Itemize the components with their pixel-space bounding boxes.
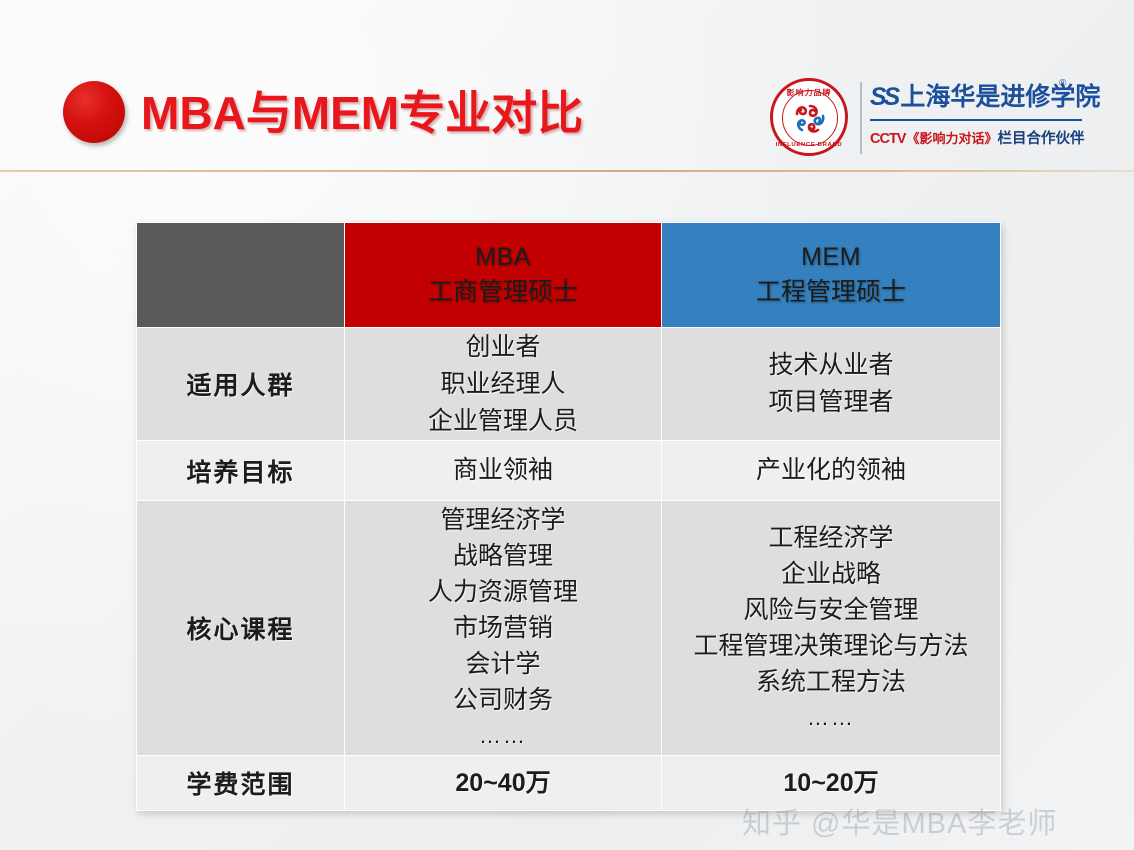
table-row-tuition-range: 学费范围 20~40万 10~20万: [137, 756, 1001, 811]
slide-header: MBA与MEM专业对比 影响力品牌 INFLUENCE BRAND SS上海华是…: [0, 0, 1134, 172]
cell-mem-tuition-range: 10~20万: [662, 756, 1001, 811]
header-divider: [0, 170, 1134, 172]
institution-logo: 影响力品牌 INFLUENCE BRAND SS上海华是进修学院 ® CCTV《…: [770, 76, 1082, 160]
row-label-target-audience: 适用人群: [137, 328, 345, 441]
header-mem-cn: 工程管理硕士: [662, 274, 1000, 310]
program-name: 《影响力对话》: [906, 131, 997, 146]
page-title: MBA与MEM专业对比: [141, 86, 583, 140]
partner-text: 栏目合作伙伴: [998, 131, 1085, 147]
seal-top-text: 影响力品牌: [773, 88, 845, 98]
table-row-core-courses: 核心课程 管理经济学战略管理人力资源管理市场营销会计学公司财务 …… 工程经济学…: [137, 501, 1001, 756]
table-header: MBA 工商管理硕士 MEM 工程管理硕士: [137, 223, 1001, 328]
row-label-training-goal: 培养目标: [137, 441, 345, 501]
header-cell-mba: MBA 工商管理硕士: [345, 223, 662, 328]
cctv-text: CCTV: [870, 131, 905, 147]
header-mba-en: MBA: [345, 240, 661, 274]
mba-mem-comparison-table: MBA 工商管理硕士 MEM 工程管理硕士 适用人群 创业者职业经理人企业管理人…: [136, 222, 1001, 811]
logo-horizontal-divider: [870, 119, 1082, 121]
header-cell-blank: [137, 223, 345, 328]
table-header-row: MBA 工商管理硕士 MEM 工程管理硕士: [137, 223, 1001, 328]
header-mba-cn: 工商管理硕士: [345, 274, 661, 310]
slide-canvas: MBA与MEM专业对比 影响力品牌 INFLUENCE BRAND SS上海华是…: [0, 0, 1134, 850]
cell-mem-training-goal: 产业化的领袖: [662, 441, 1001, 501]
logo-partner-line: CCTV《影响力对话》栏目合作伙伴: [870, 126, 1085, 152]
cell-mem-core-list: 工程经济学企业战略风险与安全管理工程管理决策理论与方法系统工程方法: [693, 524, 968, 696]
table-body: 适用人群 创业者职业经理人企业管理人员 技术从业者项目管理者 培养目标 商业领袖…: [137, 328, 1001, 811]
logo-vertical-divider: [860, 82, 862, 154]
row-label-core-courses: 核心课程: [137, 501, 345, 756]
seal-bottom-text: INFLUENCE BRAND: [773, 142, 845, 148]
seal-swirl-emblem-icon: [794, 103, 826, 133]
cell-mba-target-audience: 创业者职业经理人企业管理人员: [345, 328, 662, 441]
header-cell-mem: MEM 工程管理硕士: [662, 223, 1001, 328]
registered-trademark-icon: ®: [1059, 78, 1066, 89]
cell-mba-tuition-range: 20~40万: [345, 756, 662, 811]
cell-mba-training-goal: 商业领袖: [345, 441, 662, 501]
logo-ss-mark-icon: SS: [870, 83, 897, 111]
header-mem-en: MEM: [662, 240, 1000, 274]
influence-brand-seal-icon: 影响力品牌 INFLUENCE BRAND: [770, 78, 848, 156]
cell-mba-core-ellipsis: ……: [345, 718, 661, 754]
row-label-tuition-range: 学费范围: [137, 756, 345, 811]
cell-mem-core-ellipsis: ……: [662, 700, 1000, 736]
cell-mem-target-audience: 技术从业者项目管理者: [662, 328, 1001, 441]
logo-name-text: 上海华是进修学院: [900, 83, 1100, 111]
title-bullet-circle-icon: [63, 81, 125, 143]
table-row-target-audience: 适用人群 创业者职业经理人企业管理人员 技术从业者项目管理者: [137, 328, 1001, 441]
table-row-training-goal: 培养目标 商业领袖 产业化的领袖: [137, 441, 1001, 501]
cell-mem-core-courses: 工程经济学企业战略风险与安全管理工程管理决策理论与方法系统工程方法 ……: [662, 501, 1001, 756]
cell-mba-core-courses: 管理经济学战略管理人力资源管理市场营销会计学公司财务 ……: [345, 501, 662, 756]
cctv-wordmark-icon: CCTV: [870, 131, 905, 147]
cell-mba-core-list: 管理经济学战略管理人力资源管理市场营销会计学公司财务: [428, 506, 578, 714]
